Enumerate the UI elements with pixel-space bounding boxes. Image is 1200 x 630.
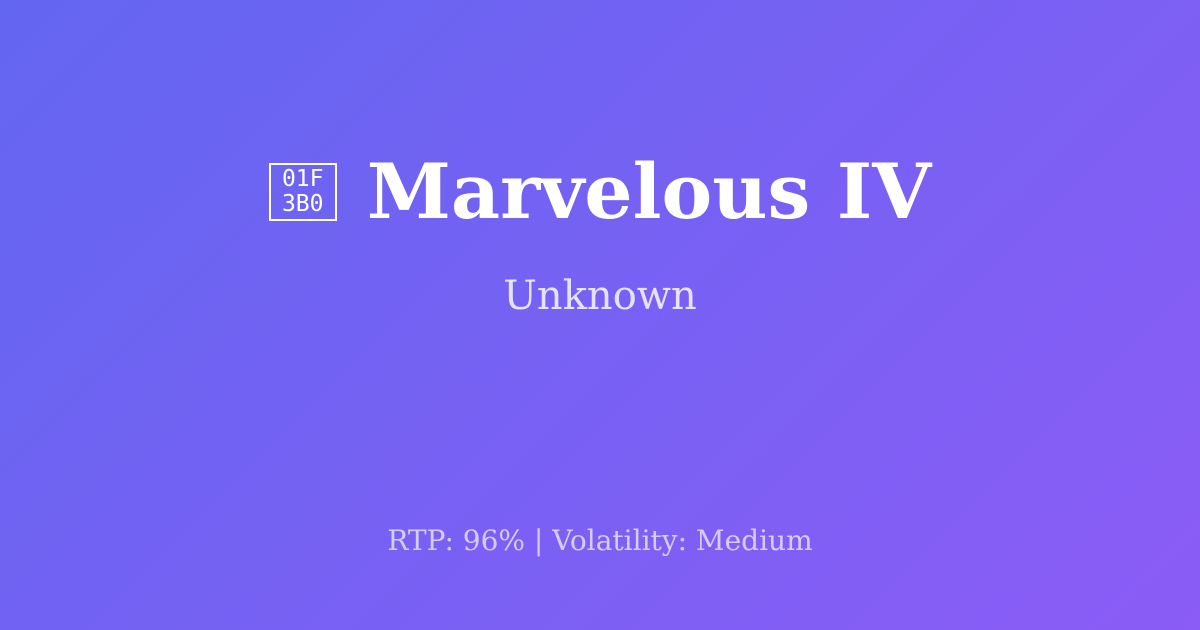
page-title: Marvelous IV [367,152,932,232]
slot-machine-icon-codepoint-lower: 3B0 [282,192,324,217]
game-stats-line: RTP: 96% | Volatility: Medium [0,524,1200,558]
hero-block: 01F 3B0 Marvelous IV Unknown [0,0,1200,472]
provider-subtitle: Unknown [503,272,697,320]
og-share-card: 01F 3B0 Marvelous IV Unknown RTP: 96% | … [0,0,1200,630]
slot-machine-icon-codepoint-upper: 01F [282,167,324,192]
slot-machine-icon: 01F 3B0 [269,163,337,221]
title-row: 01F 3B0 Marvelous IV [269,152,932,232]
